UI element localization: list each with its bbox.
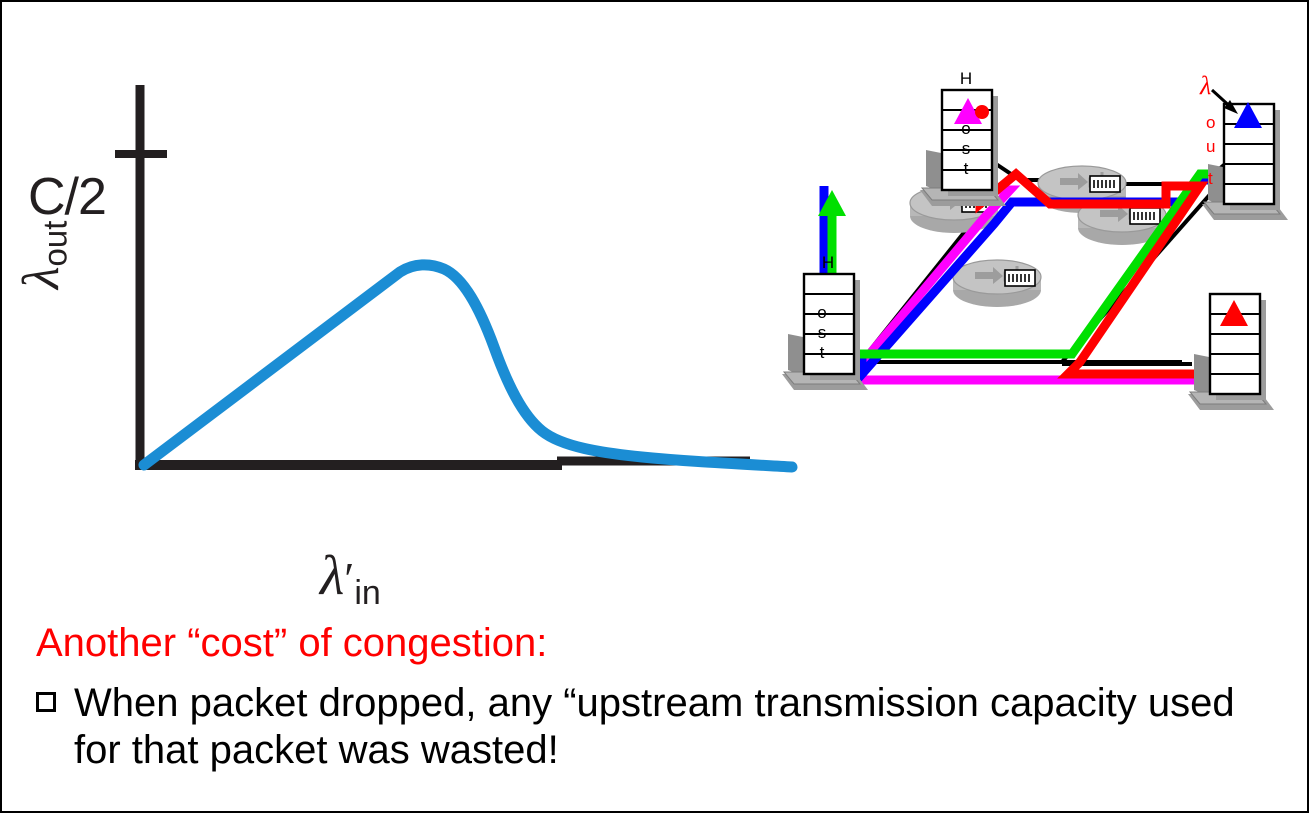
square-bullet-icon [36, 692, 56, 712]
host-left-label: H [822, 253, 834, 272]
traffic-flows [824, 122, 1266, 380]
router-bottom[interactable] [953, 260, 1041, 307]
host-left-label-t: t [820, 343, 825, 362]
throughput-chart: C/2 λout λ′in [2, 57, 822, 587]
host-top-label-s: s [962, 139, 971, 158]
host-left-label-o: o [817, 303, 826, 322]
lambda-annotation-sub-t: t [1208, 169, 1213, 188]
slide-canvas: C/2 λout λ′in [0, 0, 1309, 813]
lambda-annotation-sub-o: o [1206, 113, 1215, 132]
chart-svg [2, 57, 822, 587]
host-left[interactable]: H o s t [782, 253, 868, 390]
bullet-item-label: When packet dropped, any “upstream trans… [74, 680, 1286, 774]
flow-red-origin-dot [975, 105, 989, 119]
network-svg: H o s t H o s t [762, 62, 1309, 432]
host-top[interactable]: H o s t [920, 69, 1006, 206]
bullet-item: When packet dropped, any “upstream trans… [36, 680, 1286, 774]
lambda-annotation-glyph: λ [1199, 71, 1211, 100]
host-top-label-t: t [964, 159, 969, 178]
network-topology-diagram: H o s t H o s t [762, 62, 1309, 432]
host-top-label: H [960, 69, 972, 88]
host-left-label-s: s [818, 323, 827, 342]
flow-magenta [858, 122, 1226, 380]
caption-block: Another “cost” of congestion: When packe… [36, 620, 1286, 774]
lambda-annotation-sub-u: u [1206, 137, 1215, 156]
flow-red [980, 126, 1234, 374]
throughput-curve [144, 265, 792, 467]
headline-text: Another “cost” of congestion: [36, 620, 1286, 666]
